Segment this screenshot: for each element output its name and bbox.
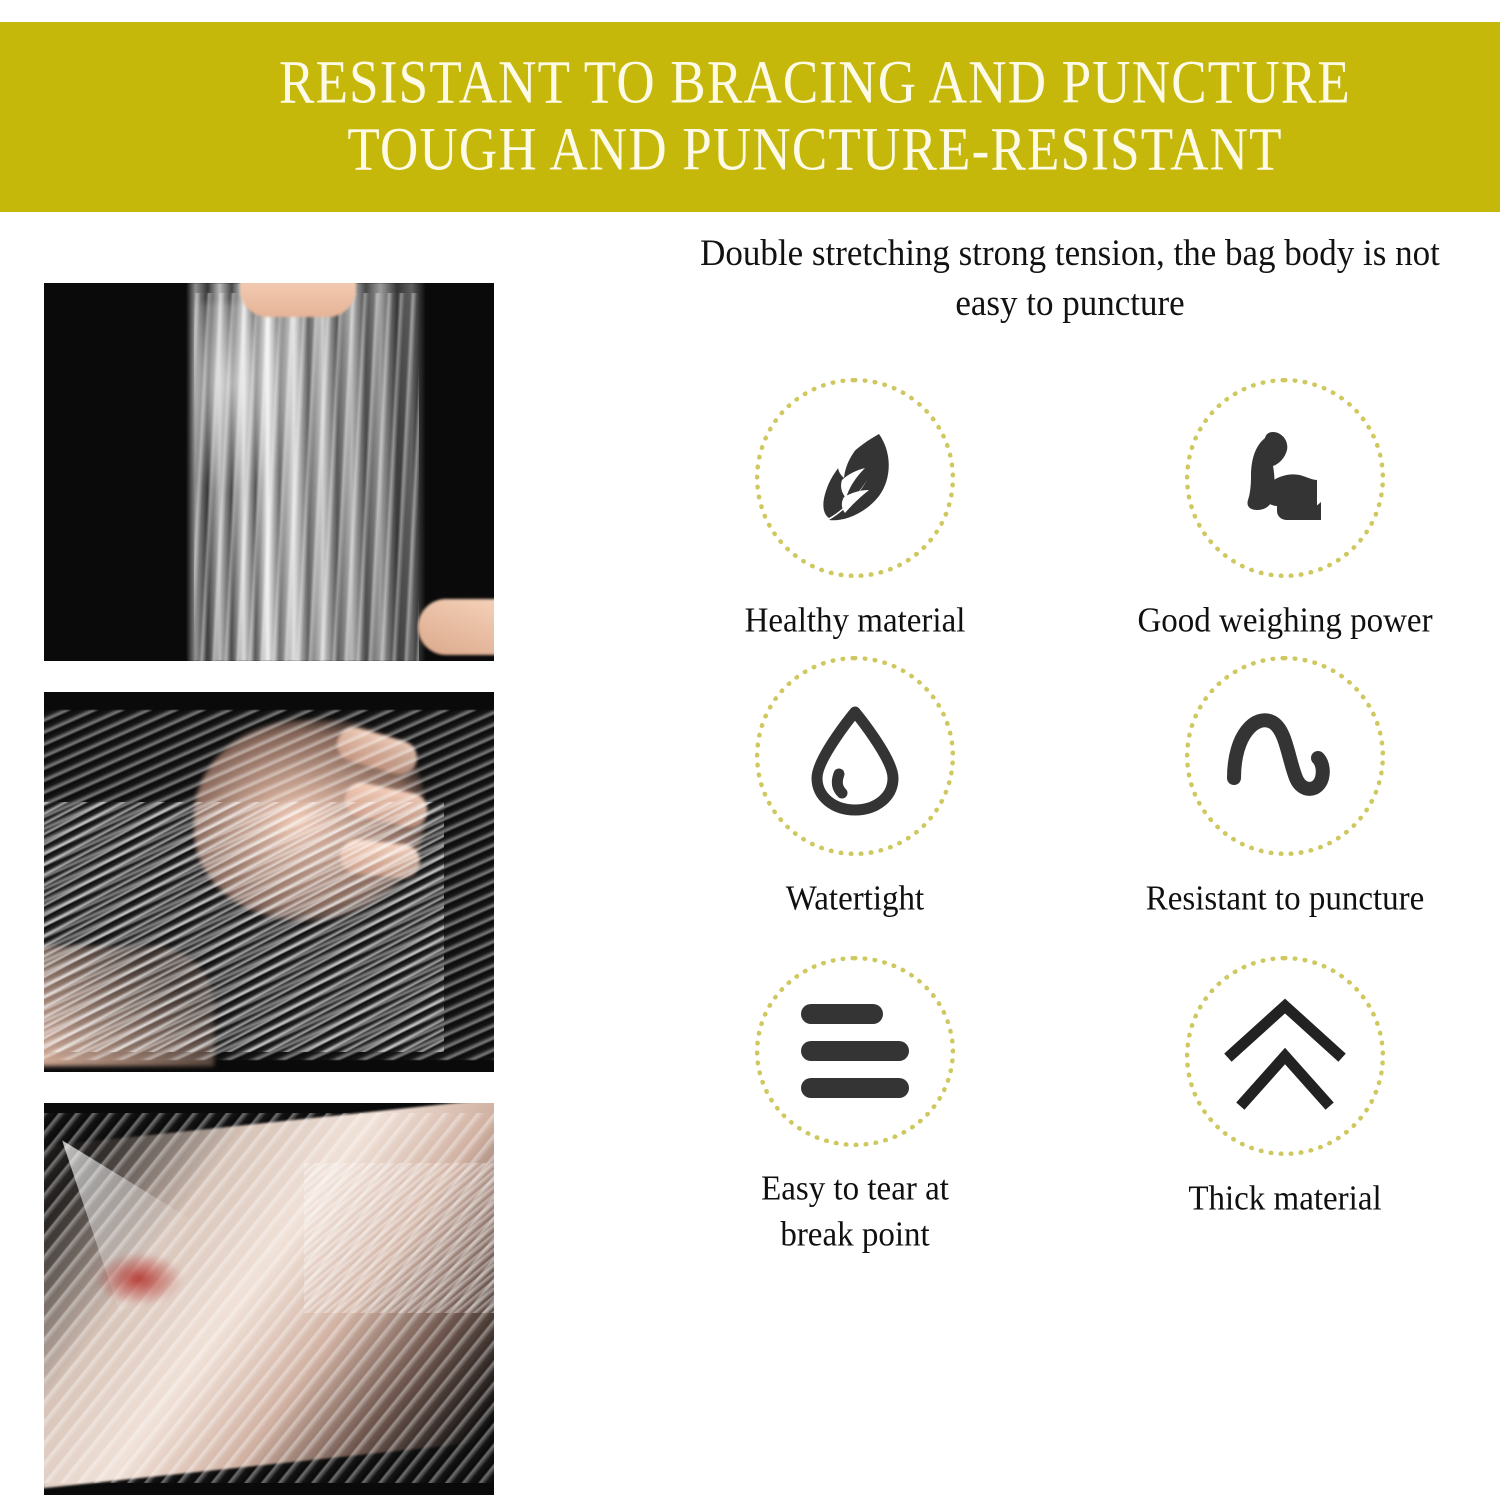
film-sheen bbox=[304, 1163, 494, 1313]
film-fan-folds bbox=[44, 802, 444, 1052]
film-crinkle-highlight bbox=[194, 303, 314, 503]
water-drop-icon bbox=[795, 696, 915, 816]
feature-thick-material: Thick material bbox=[1070, 956, 1500, 1256]
hand-grip-top bbox=[240, 283, 356, 317]
leaf-icon bbox=[795, 418, 915, 538]
feature-resistant-to-puncture: Resistant to puncture bbox=[1070, 656, 1500, 956]
three-bars-icon bbox=[793, 996, 917, 1106]
feature-icon-circle bbox=[1185, 956, 1385, 1156]
feature-label: Healthy material bbox=[745, 599, 966, 645]
feature-easy-to-tear: Easy to tear at break point bbox=[640, 956, 1070, 1256]
feature-watertight: Watertight bbox=[640, 656, 1070, 956]
feature-label: Easy to tear at break point bbox=[761, 1167, 949, 1258]
feature-label: Resistant to puncture bbox=[1146, 877, 1425, 923]
feature-column: Double stretching strong tension, the ba… bbox=[640, 232, 1500, 1256]
hand-grip-right bbox=[418, 599, 494, 655]
product-photo-column bbox=[44, 283, 494, 1495]
feature-healthy-material: Healthy material bbox=[640, 378, 1070, 656]
feature-icon-circle bbox=[1185, 656, 1385, 856]
feature-good-weighing-power: Good weighing power bbox=[1070, 378, 1500, 656]
feature-icon-circle bbox=[755, 378, 955, 578]
product-photo-stretching-film bbox=[44, 692, 494, 1072]
film-layer bbox=[44, 1103, 494, 1495]
skin-shadow bbox=[96, 1253, 182, 1305]
wave-icon bbox=[1222, 696, 1348, 816]
product-photo-holding-film bbox=[44, 283, 494, 661]
product-photo-wrapped-arm bbox=[44, 1103, 494, 1495]
feature-label: Good weighing power bbox=[1137, 599, 1432, 645]
feature-icon-circle bbox=[1185, 378, 1385, 578]
feature-icon-circle bbox=[755, 956, 955, 1147]
film-layer bbox=[44, 692, 494, 1072]
feature-label: Thick material bbox=[1188, 1177, 1381, 1223]
banner-headline-line-2: TOUGH AND PUNCTURE-RESISTANT bbox=[347, 112, 1282, 190]
header-banner: RESISTANT TO BRACING AND PUNCTURE TOUGH … bbox=[0, 22, 1500, 212]
subheadline: Double stretching strong tension, the ba… bbox=[675, 229, 1465, 328]
film-layer bbox=[44, 283, 494, 661]
feature-icon-circle bbox=[755, 656, 955, 856]
double-chevron-up-icon bbox=[1222, 998, 1348, 1114]
feature-grid: Healthy material Good weighing power bbox=[640, 378, 1500, 1256]
flexed-bicep-icon bbox=[1225, 418, 1345, 538]
feature-label: Watertight bbox=[786, 877, 924, 923]
